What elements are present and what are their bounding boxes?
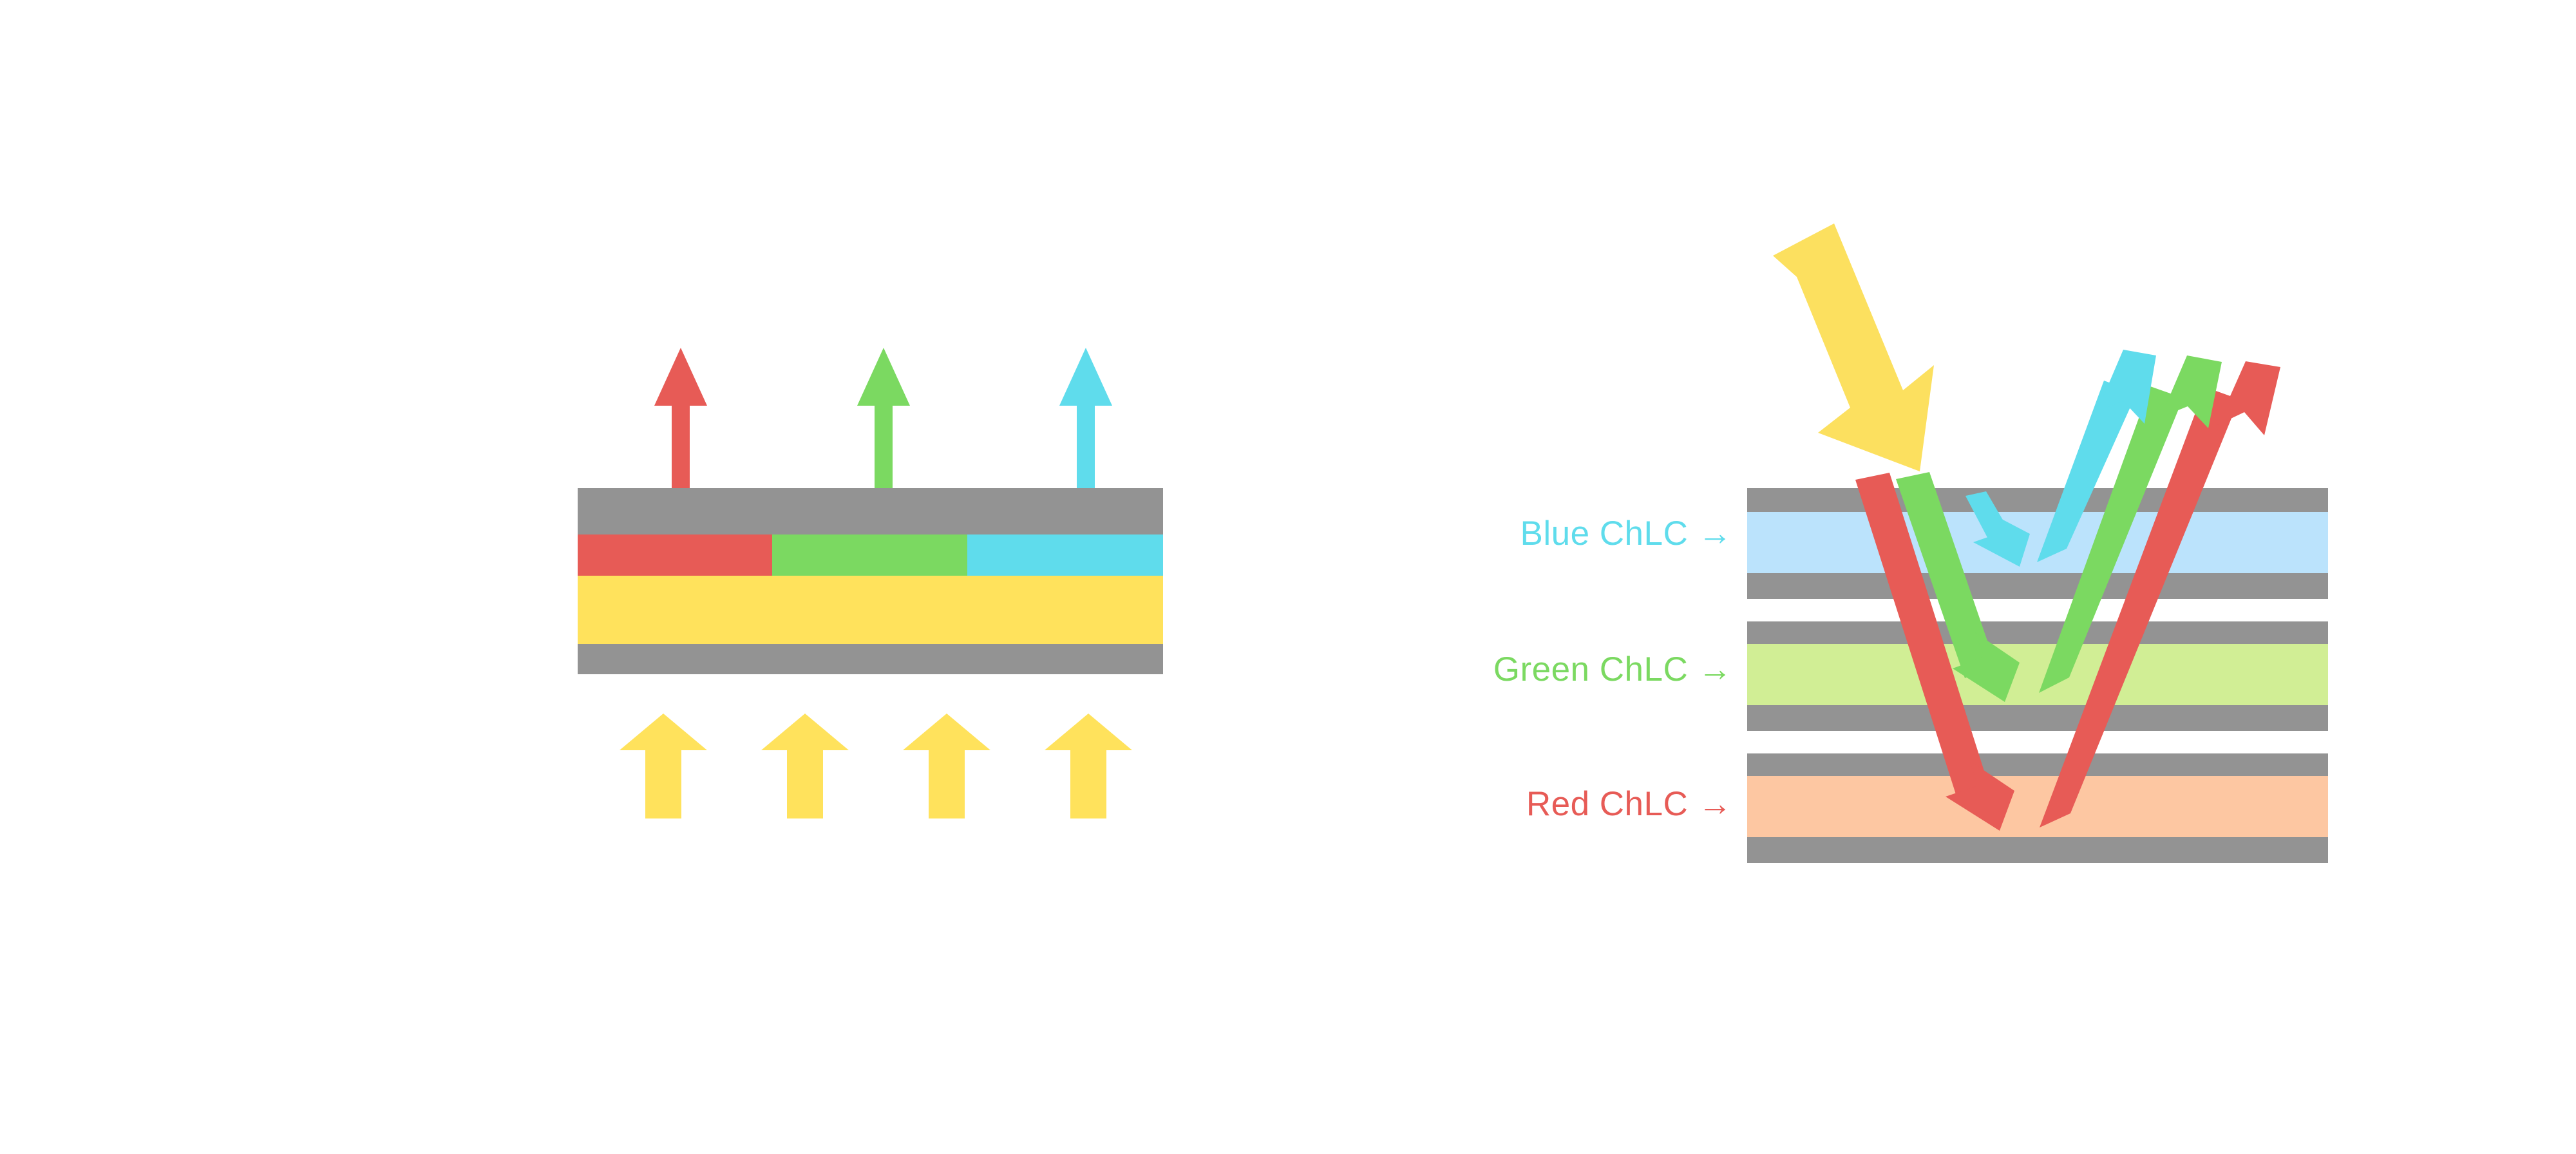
blue-emission-arrow [1059,348,1112,488]
red-chlc-cell [1747,753,2328,863]
blue-chlc-medium [1747,512,2328,573]
red-chlc-label: Red ChLC → [1526,785,1732,823]
green-filter-segment [772,534,967,576]
bottom-electrode-layer [578,644,1163,674]
green-cell-top-electrode [1747,621,2328,644]
white-light-incident-arrow [1772,1,1934,471]
red-cell-top-electrode [1747,753,2328,776]
blue-cell-top-electrode [1747,488,2328,512]
red-cell-bottom-electrode [1747,837,2328,863]
blue-filter-segment [967,534,1163,576]
red-chlc-medium [1747,776,2328,837]
red-emission-arrow [654,348,707,488]
green-chlc-label: Green ChLC → [1493,650,1732,688]
diagram-canvas: Blue ChLC → Green ChLC → Red ChLC → [0,0,2576,1154]
backlight-layer [578,576,1163,644]
emitted-arrows-group [654,348,1112,488]
backlight-arrow-4 [1045,714,1132,818]
reflective-stack-panel: Blue ChLC → Green ChLC → Red ChLC → [1493,1,2328,863]
red-filter-segment [578,534,772,576]
backlight-arrow-2 [761,714,849,818]
blue-cell-bottom-electrode [1747,573,2328,599]
blue-chlc-cell [1747,488,2328,599]
blue-chlc-label: Blue ChLC → [1520,515,1732,553]
green-emission-arrow [857,348,910,488]
green-chlc-medium [1747,644,2328,705]
green-cell-bottom-electrode [1747,705,2328,731]
green-chlc-cell [1747,621,2328,731]
backlight-arrow-3 [903,714,990,818]
backlight-arrows-group [620,714,1132,818]
chlc-labels-group: Blue ChLC → Green ChLC → Red ChLC → [1493,515,1732,823]
top-electrode-layer [578,488,1163,534]
backlight-arrow-1 [620,714,707,818]
emissive-stack-panel [578,348,1163,818]
emissive-layer-stack [578,488,1163,674]
figure-root: Blue ChLC → Green ChLC → Red ChLC → [0,0,2576,1154]
